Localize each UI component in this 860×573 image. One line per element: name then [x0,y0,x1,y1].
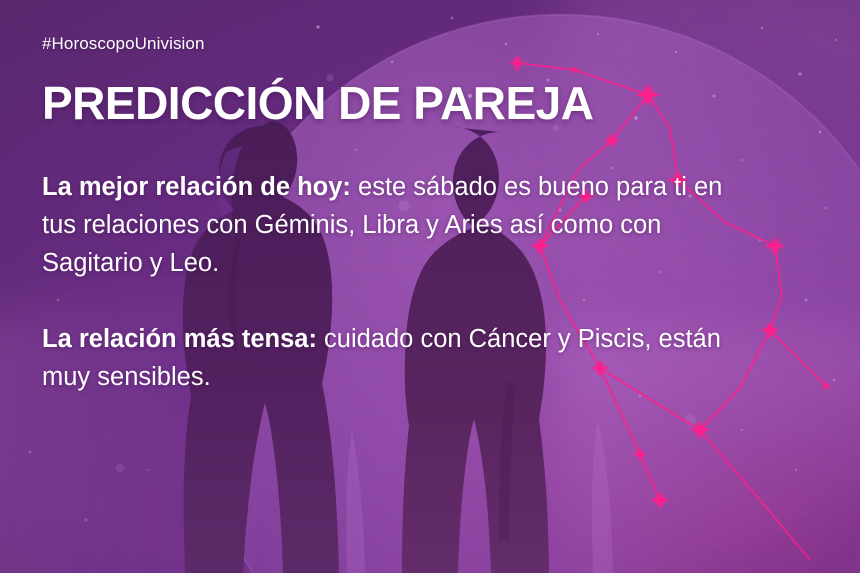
page-title: PREDICCIÓN DE PAREJA [42,80,818,126]
paragraph-spacer [42,282,742,320]
horoscope-card: #HoroscopoUnivision PREDICCIÓN DE PAREJA… [0,0,860,573]
hashtag-label: #HoroscopoUnivision [42,34,818,54]
paragraph-best-relationship-lead: La mejor relación de hoy: [42,173,351,201]
content-area: #HoroscopoUnivision PREDICCIÓN DE PAREJA… [0,0,860,573]
prediction-body: La mejor relación de hoy: este sábado es… [42,168,742,396]
paragraph-best-relationship: La mejor relación de hoy: este sábado es… [42,168,742,282]
paragraph-tense-relationship-lead: La relación más tensa: [42,325,317,353]
paragraph-tense-relationship: La relación más tensa: cuidado con Cánce… [42,320,742,396]
